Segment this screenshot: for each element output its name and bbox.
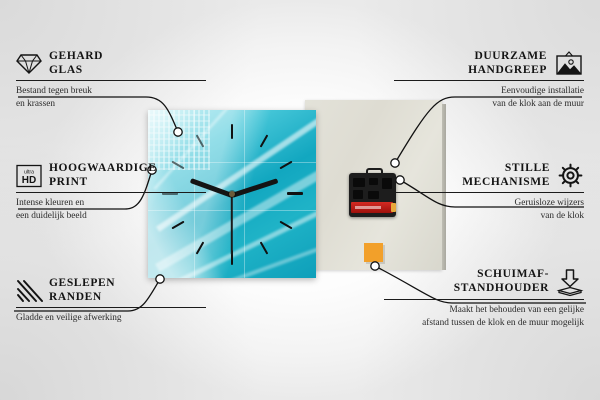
- hour-marker-3: [287, 192, 303, 195]
- gear-icon: [557, 162, 584, 189]
- feature-title-line1: GEHARD: [49, 50, 103, 64]
- feature-stille-mechanisme[interactable]: STILLE MECHANISME Geruisloze wijzers van…: [394, 162, 584, 222]
- hour-hand: [231, 178, 278, 198]
- feature-desc-line1: Maakt het behouden van een gelijke: [384, 304, 584, 317]
- hour-marker-5: [260, 241, 269, 254]
- hour-marker-12: [231, 124, 233, 139]
- divider: [16, 80, 206, 81]
- divider: [16, 192, 206, 193]
- feature-title-line2: MECHANISME: [462, 176, 550, 190]
- feature-desc-line2: en krassen: [16, 98, 206, 111]
- feature-title-line1: DUURZAME: [468, 50, 547, 64]
- feature-desc-line2: afstand tussen de klok en de muur mogeli…: [384, 317, 584, 330]
- feature-title-line1: GESLEPEN: [49, 277, 115, 291]
- hour-marker-1: [260, 134, 269, 147]
- feature-desc-line1: Eenvoudige installatie: [394, 85, 584, 98]
- movement-slot: [382, 178, 392, 189]
- feature-duurzame-handgreep[interactable]: DUURZAME HANDGREEP Eenvoudige installati…: [394, 50, 584, 110]
- feature-desc-line2: van de klok: [394, 210, 584, 223]
- battery-label: [355, 206, 381, 209]
- feature-title-line2: PRINT: [49, 176, 157, 190]
- second-hand: [231, 195, 233, 255]
- battery-photo: [351, 202, 393, 213]
- infographic-canvas: GEHARD GLAS Bestand tegen breuk en krass…: [0, 0, 600, 400]
- diamond-icon: [16, 53, 42, 75]
- feature-desc-line1: Intense kleuren en: [16, 197, 206, 210]
- feature-title-line2: RANDEN: [49, 291, 115, 305]
- svg-text:HD: HD: [22, 175, 36, 186]
- movement-slot: [353, 178, 365, 187]
- ultra-hd-icon: ultra HD: [16, 164, 42, 188]
- movement-slot: [369, 178, 378, 185]
- feature-desc-line1: Gladde en veilige afwerking: [16, 312, 206, 325]
- picture-frame-icon: [554, 51, 584, 77]
- feature-title-line1: HOOGWAARDIGE: [49, 162, 157, 176]
- feature-geslepen-randen[interactable]: GESLEPEN RANDEN Gladde en veilige afwerk…: [16, 277, 206, 325]
- divider: [16, 307, 206, 308]
- bevelled-lines-icon: [16, 280, 42, 302]
- feature-hoogwaardige-print[interactable]: ultra HD HOOGWAARDIGE PRINT Intense kleu…: [16, 162, 206, 222]
- feature-desc-line1: Geruisloze wijzers: [394, 197, 584, 210]
- feature-title-line1: SCHUIMAF-: [454, 268, 549, 282]
- foam-spacer-photo: [364, 243, 383, 262]
- feature-title-line2: HANDGREEP: [468, 64, 547, 78]
- divider: [384, 299, 584, 300]
- movement-slot: [368, 191, 379, 199]
- feature-title-line2: STANDHOUDER: [454, 282, 549, 296]
- divider: [394, 80, 584, 81]
- hand-center-cap: [229, 191, 235, 197]
- feature-schuimafstandhouder[interactable]: SCHUIMAF- STANDHOUDER Maakt het behouden…: [384, 268, 584, 329]
- feature-gehard-glas[interactable]: GEHARD GLAS Bestand tegen breuk en krass…: [16, 50, 206, 110]
- feature-desc-line1: Bestand tegen breuk: [16, 85, 206, 98]
- feature-desc-line2: een duidelijk beeld: [16, 210, 206, 223]
- divider: [394, 192, 584, 193]
- feature-title-line2: GLAS: [49, 64, 103, 78]
- press-down-icon: [556, 268, 584, 296]
- feature-title-line1: STILLE: [462, 162, 550, 176]
- movement-slot: [353, 190, 363, 199]
- feature-desc-line2: van de klok aan de muur: [394, 98, 584, 111]
